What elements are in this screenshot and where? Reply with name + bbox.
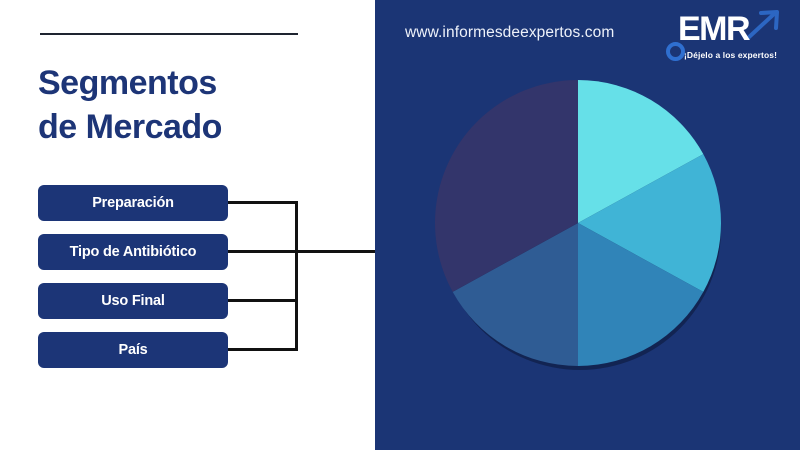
segment-button-tipo-de-antibiotico[interactable]: Tipo de Antibiótico [38,234,228,270]
pie-chart-svg [435,80,721,366]
top-divider [40,33,298,35]
segment-button-label: Tipo de Antibiótico [70,244,197,260]
segment-button-label: País [118,342,147,358]
connector-line-segment-3 [228,299,298,302]
segment-button-uso-final[interactable]: Uso Final [38,283,228,319]
emr-tagline: ¡Déjelo a los expertos! [684,50,777,60]
segment-button-label: Preparación [92,195,174,211]
emr-logo: EMR ¡Déjelo a los expertos! [664,6,792,68]
left-panel: Segmentos de Mercado Preparación Tipo de… [0,0,375,450]
segment-button-preparacion[interactable]: Preparación [38,185,228,221]
connector-line-to-chart [295,250,377,253]
slide-root: Segmentos de Mercado Preparación Tipo de… [0,0,800,450]
segment-button-pais[interactable]: País [38,332,228,368]
page-title: Segmentos de Mercado [38,62,358,149]
connector-line-segment-4 [228,348,298,351]
connector-line-segment-2 [228,250,298,253]
emr-wordmark: EMR [678,12,749,46]
arrow-up-right-icon [744,8,786,42]
right-panel: www.informesdeexpertos.com EMR ¡Déjelo a… [375,0,800,450]
site-url: www.informesdeexpertos.com [405,24,614,42]
connector-line-vertical-trunk [295,201,298,351]
pie-chart [435,80,725,370]
connector-line-segment-1 [228,201,298,204]
segment-button-label: Uso Final [101,293,164,309]
